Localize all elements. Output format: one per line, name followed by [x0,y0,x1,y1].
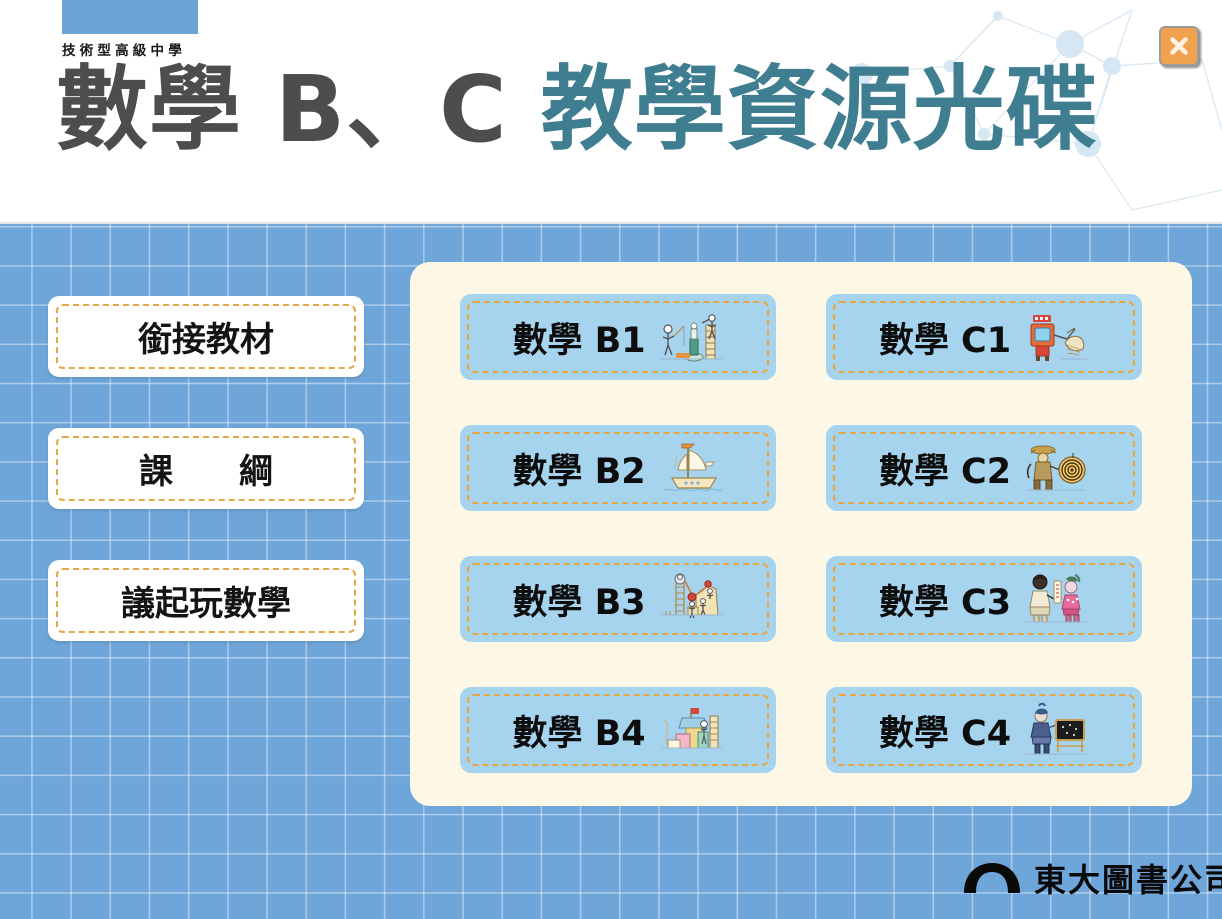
sidebar-item-curriculum-guideline[interactable]: 課綱 [48,428,364,509]
sidebar-menu: 銜接教材 課綱 議起玩數學 [48,296,364,692]
two-figures-icon [1023,571,1089,627]
course-grid: 數學 B1 [460,294,1142,774]
course-button-b4[interactable]: 數學 B4 [460,687,776,773]
surveying-measurement-icon [658,309,724,365]
course-button-c1[interactable]: 數學 C1 [826,294,1142,380]
construction-crane-icon [658,571,724,627]
publisher-logo: 東大圖書公司 [962,855,1222,901]
course-button-c4[interactable]: 數學 C4 [826,687,1142,773]
course-button-b1[interactable]: 數學 B1 [460,294,776,380]
page-title-dark-segment: 數學 B、C [56,56,541,163]
sailboat-icon [658,440,724,496]
market-stall-icon [658,702,724,758]
school-logo: 技術型高級中學 [62,0,198,59]
sidebar-item-play-math[interactable]: 議起玩數學 [48,560,364,641]
robot-icon [1023,309,1089,365]
course-button-c2[interactable]: 數學 C2 [826,425,1142,511]
arch-logo-icon [962,861,1022,895]
course-label: 數學 B1 [512,312,645,363]
course-panel: 數學 B1 [410,262,1192,806]
page-title: 數學 B、C 教學資源光碟 [56,58,1099,161]
header-divider [0,222,1222,224]
page-header: 技術型高級中學 數學 B、C 教學資源光碟 [0,0,1222,224]
course-button-b2[interactable]: 數學 B2 [460,425,776,511]
application-root: 技術型高級中學 數學 B、C 教學資源光碟 銜接教材 課綱 議起玩數學 數學 B… [0,0,1222,919]
sidebar-item-label: 議起玩數學 [121,576,291,625]
course-label: 數學 C4 [879,705,1011,756]
course-button-c3[interactable]: 數學 C3 [826,556,1142,642]
course-button-b3[interactable]: 數學 B3 [460,556,776,642]
logo-swatch [62,0,198,34]
course-label: 數學 C1 [879,312,1011,363]
sidebar-item-bridging-material[interactable]: 銜接教材 [48,296,364,377]
sidebar-item-label: 課綱 [73,444,339,493]
course-label: 數學 C3 [879,574,1011,625]
page-title-teal-segment: 教學資源光碟 [541,56,1099,163]
close-button[interactable] [1159,26,1199,66]
course-label: 數學 B4 [512,705,645,756]
course-label: 數學 C2 [879,443,1011,494]
teacher-blackboard-icon [1023,702,1089,758]
archer-target-icon [1023,440,1089,496]
course-label: 數學 B2 [512,443,645,494]
close-icon [1168,35,1190,57]
sidebar-item-label: 銜接教材 [138,312,274,361]
course-label: 數學 B3 [512,574,645,625]
publisher-name: 東大圖書公司 [1034,855,1222,901]
